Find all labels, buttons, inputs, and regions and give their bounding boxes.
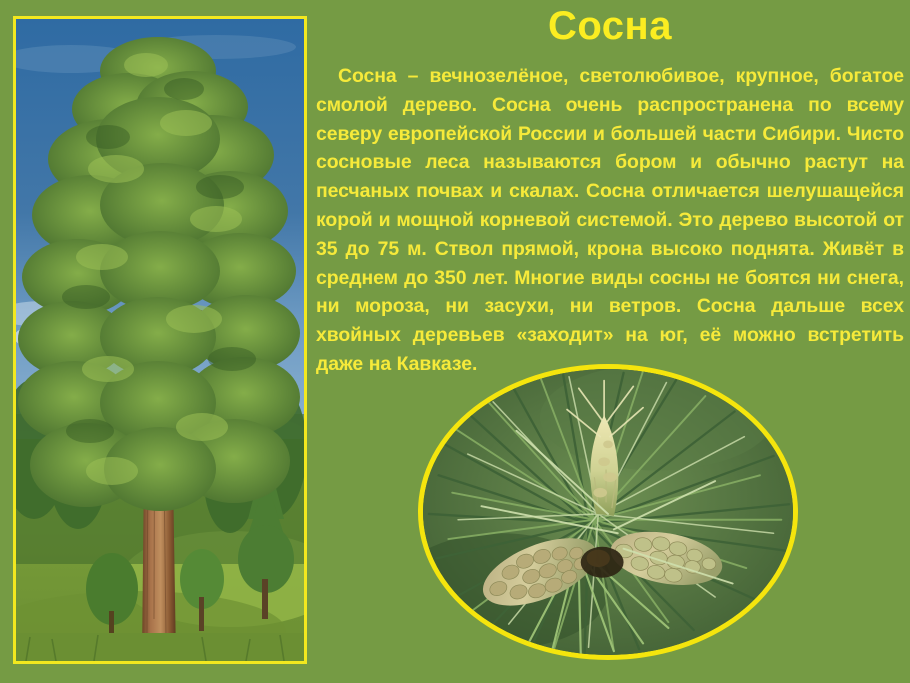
pine-branch-illustration	[423, 369, 793, 655]
pine-tree-photo	[13, 16, 307, 664]
body-paragraph: Сосна – вечнозелёное, светолюбивое, круп…	[316, 62, 904, 379]
pine-tree-illustration	[16, 19, 304, 661]
page-title: Сосна	[310, 2, 910, 50]
slide: Сосна Сосна – вечнозелёное, светолюбивое…	[0, 0, 910, 683]
pine-branch-photo	[418, 364, 798, 660]
